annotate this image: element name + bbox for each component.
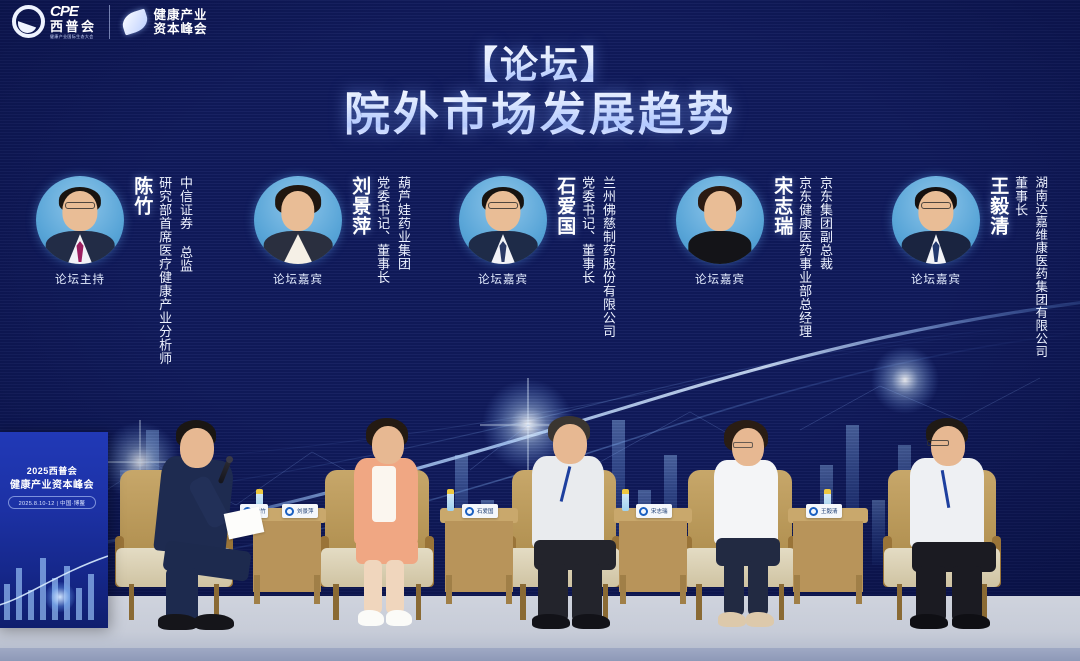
- panelist-photo-column: 论坛嘉宾: [455, 176, 551, 287]
- panelist-affiliation-line1: 中信证券 总监: [175, 176, 194, 273]
- rollup-line2: 健康产业资本峰会: [0, 476, 108, 491]
- panelist-avatar: [254, 176, 342, 264]
- cpe-subtitle: 健康产业国际生态大会: [50, 35, 94, 39]
- water-bottle: [447, 489, 454, 511]
- placard-logo-icon: [465, 507, 474, 516]
- health-summit-line1: 健康产业: [154, 8, 208, 22]
- placard-logo-icon: [809, 507, 818, 516]
- panelist-card: 论坛嘉宾 石爱国 党委书记、董事长 兰州佛慈制药股份有限公司: [455, 176, 617, 338]
- panelist-affiliation-line1: 兰州佛慈制药股份有限公司: [598, 176, 617, 338]
- portrait-illustration: [36, 176, 124, 264]
- panelist-photo-column: 论坛主持: [32, 176, 128, 287]
- portrait-illustration: [676, 176, 764, 264]
- rollup-banner: 2025西普会 健康产业资本峰会 2025.8.10-12 | 中国·博鳌: [0, 432, 108, 628]
- panelist-avatar: [459, 176, 547, 264]
- panelist-affiliation-line1: 湖南达嘉维康医药集团有限公司: [1031, 176, 1049, 358]
- event-logo-bar: CPE 西普会 健康产业国际生态大会 健康产业 资本峰会: [12, 4, 208, 39]
- conference-stage-screenshot: CPE 西普会 健康产业国际生态大会 健康产业 资本峰会 【论坛】 院外市场发展…: [0, 0, 1080, 661]
- seated-panelist: [520, 414, 630, 628]
- portrait-illustration: [254, 176, 342, 264]
- panelist-avatar: [36, 176, 124, 264]
- logo-divider: [109, 5, 110, 39]
- panelist-name: 石爱国: [554, 176, 575, 236]
- placard-name: 宋志瑞: [651, 507, 668, 515]
- leaf-icon: [119, 8, 150, 35]
- name-placard: 石爱国: [462, 504, 498, 518]
- panelist-card: 论坛嘉宾 宋志瑞 京东健康医药事业部总经理 京东集团副总裁: [672, 176, 834, 338]
- panelist-role: 论坛嘉宾: [911, 271, 961, 287]
- placard-name: 王毅清: [821, 507, 838, 515]
- panelist-affiliation-line2: 党委书记、董事长: [577, 176, 596, 284]
- side-table: [440, 508, 518, 604]
- panelist-name: 陈竹: [131, 176, 152, 216]
- placard-name: 石爱国: [477, 507, 494, 515]
- seated-panelist: [340, 418, 440, 628]
- paper-notes: [224, 507, 265, 540]
- panelist-photo-column: 论坛嘉宾: [672, 176, 768, 287]
- cpe-wordmark: CPE: [50, 4, 97, 19]
- panelist-avatar: [892, 176, 980, 264]
- forum-title-main: 院外市场发展趋势: [0, 87, 1080, 142]
- cpe-ring-icon: [12, 5, 45, 38]
- panelist-affiliation-line2: 党委书记、董事长: [372, 176, 391, 284]
- side-table: [788, 508, 868, 604]
- panelist-affiliation-line2: 研究部首席医疗健康产业分析师: [154, 176, 173, 365]
- forum-title-bracket: 【论坛】: [0, 44, 1080, 89]
- panelist-affiliation-line2: 董事长: [1010, 176, 1029, 217]
- panelist-affiliation-line1: 葫芦娃药业集团: [393, 176, 412, 271]
- panelist-name: 王毅清: [987, 176, 1008, 236]
- panelist-role: 论坛嘉宾: [478, 271, 528, 287]
- panelist-card: 论坛嘉宾 刘景萍 党委书记、董事长 葫芦娃药业集团: [250, 176, 412, 287]
- panelist-photo-column: 论坛嘉宾: [250, 176, 346, 287]
- portrait-illustration: [892, 176, 980, 264]
- placard-logo-icon: [639, 507, 648, 516]
- panelist-role: 论坛主持: [55, 271, 105, 287]
- panelist-avatar: [676, 176, 764, 264]
- health-capital-summit-logo: 健康产业 资本峰会: [122, 8, 208, 36]
- panelist-name: 刘景萍: [349, 176, 370, 236]
- portrait-illustration: [459, 176, 547, 264]
- seated-panelist: [898, 416, 1010, 628]
- name-placard: 刘景萍: [282, 504, 318, 518]
- panelist-photo-column: 论坛嘉宾: [888, 176, 984, 287]
- cpe-logo: CPE 西普会 健康产业国际生态大会: [12, 4, 97, 39]
- panelist-affiliation-line2: 京东健康医药事业部总经理: [794, 176, 813, 338]
- placard-name: 刘景萍: [297, 507, 314, 515]
- panelist-card: 论坛主持 陈竹 研究部首席医疗健康产业分析师 中信证券 总监: [32, 176, 194, 365]
- name-placard: 王毅清: [806, 504, 842, 518]
- seated-moderator: [150, 418, 270, 628]
- forum-title-block: 【论坛】 院外市场发展趋势: [0, 44, 1080, 142]
- rollup-date: 2025.8.10-12 | 中国·博鳌: [8, 496, 96, 509]
- cpe-chinese-name: 西普会: [50, 20, 97, 33]
- health-summit-text: 健康产业 资本峰会: [154, 8, 208, 36]
- panelist-name: 宋志瑞: [771, 176, 792, 236]
- name-placard: 宋志瑞: [636, 504, 672, 518]
- health-summit-line2: 资本峰会: [154, 22, 208, 36]
- panelist-card-row: 论坛主持 陈竹 研究部首席医疗健康产业分析师 中信证券 总监 论坛嘉宾 刘景萍: [0, 176, 1080, 426]
- panelist-card: 论坛嘉宾 王毅清 董事长 湖南达嘉维康医药集团有限公司: [888, 176, 1049, 358]
- panelist-role: 论坛嘉宾: [695, 271, 745, 287]
- panelist-affiliation-line1: 京东集团副总裁: [815, 176, 834, 271]
- cpe-logo-text: CPE 西普会 健康产业国际生态大会: [50, 4, 97, 39]
- panelist-role: 论坛嘉宾: [273, 271, 323, 287]
- seated-panelist: [700, 420, 800, 628]
- placard-logo-icon: [285, 507, 294, 516]
